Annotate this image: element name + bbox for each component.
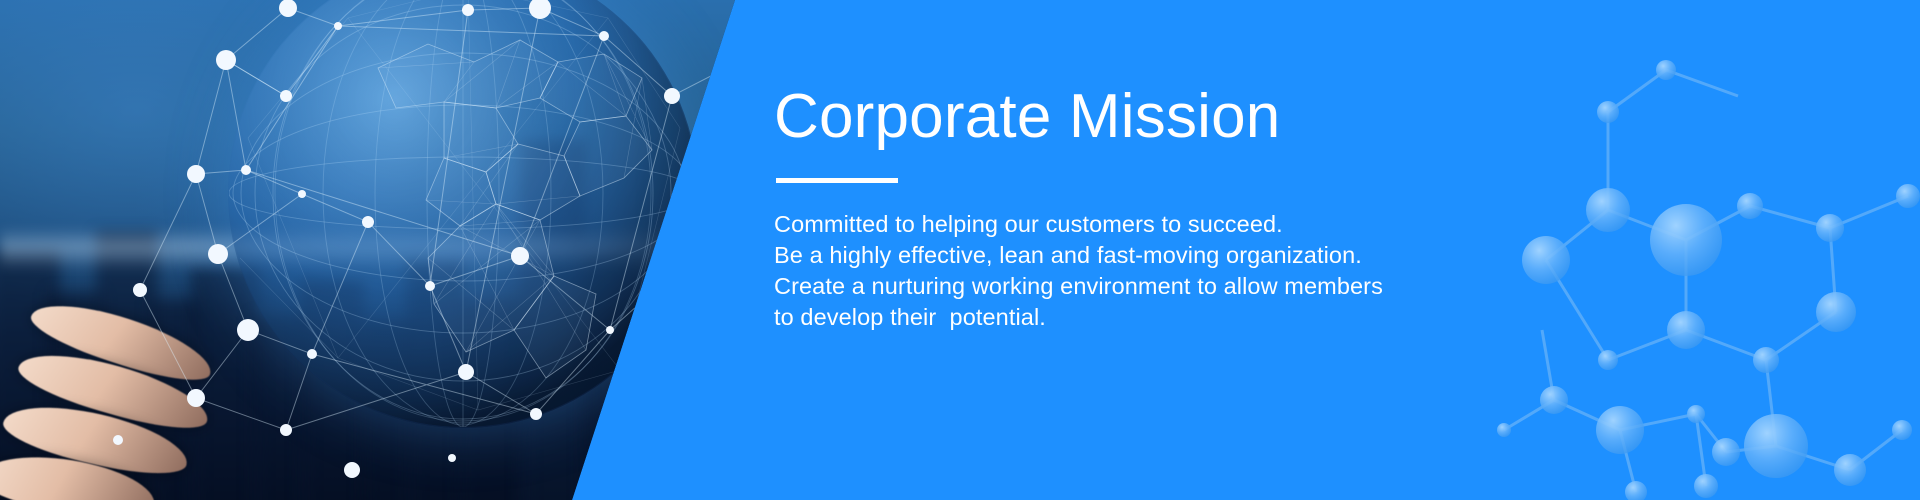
mission-line: Create a nurturing working environment t… (774, 271, 1534, 302)
corporate-mission-banner: Corporate Mission Committed to helping o… (0, 0, 1920, 500)
mission-line: to develop their potential. (774, 302, 1534, 333)
network-node-overlay (0, 0, 760, 500)
page-title: Corporate Mission (774, 86, 1534, 148)
title-divider (776, 178, 898, 183)
mission-line: Be a highly effective, lean and fast-mov… (774, 240, 1534, 271)
globe-network-hand-photo (0, 0, 760, 500)
skyline-building (636, 300, 706, 500)
mission-line: Committed to helping our customers to su… (774, 209, 1534, 240)
banner-content: Corporate Mission Committed to helping o… (774, 86, 1534, 333)
molecule-lattice-pattern (1490, 0, 1920, 500)
mission-statement: Committed to helping our customers to su… (774, 209, 1534, 333)
